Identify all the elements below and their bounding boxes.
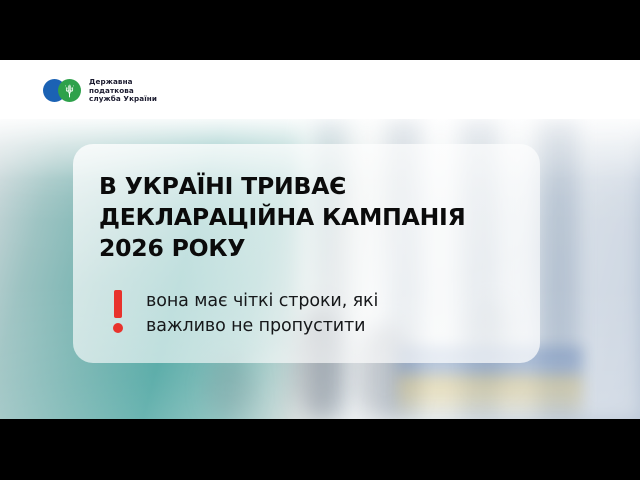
alert-note: вона має чіткі строки, які важливо не пр… [112, 289, 378, 339]
video-frame: В УКРАЇНІ ТРИВАЄ ДЕКЛАРАЦІЙНА КАМПАНІЯ 2… [0, 0, 640, 480]
headline-line-1: В УКРАЇНІ ТРИВАЄ [99, 171, 551, 202]
logo-text: Державна податкова служба України [89, 78, 157, 104]
exclamation-dot [113, 323, 123, 333]
logo-marks [43, 79, 83, 102]
subtitle-line-1: вона має чіткі строки, які [146, 289, 378, 314]
headline-line-2: ДЕКЛАРАЦІЙНА КАМПАНІЯ [99, 202, 551, 233]
organization-logo: Державна податкова служба України [43, 78, 157, 104]
letterbox-top [0, 0, 640, 60]
letterbox-bottom [0, 419, 640, 480]
logo-green-circle-icon [58, 79, 81, 102]
exclamation-mark-icon [112, 290, 124, 336]
trident-icon [64, 84, 75, 98]
page-title: В УКРАЇНІ ТРИВАЄ ДЕКЛАРАЦІЙНА КАМПАНІЯ 2… [99, 171, 551, 264]
logo-text-line-3: служба України [89, 94, 157, 103]
exclamation-bar [114, 290, 122, 318]
subtitle-line-2: важливо не пропустити [146, 314, 378, 339]
subtitle-text: вона має чіткі строки, які важливо не пр… [146, 289, 378, 339]
headline-line-3: 2026 РОКУ [99, 233, 551, 264]
